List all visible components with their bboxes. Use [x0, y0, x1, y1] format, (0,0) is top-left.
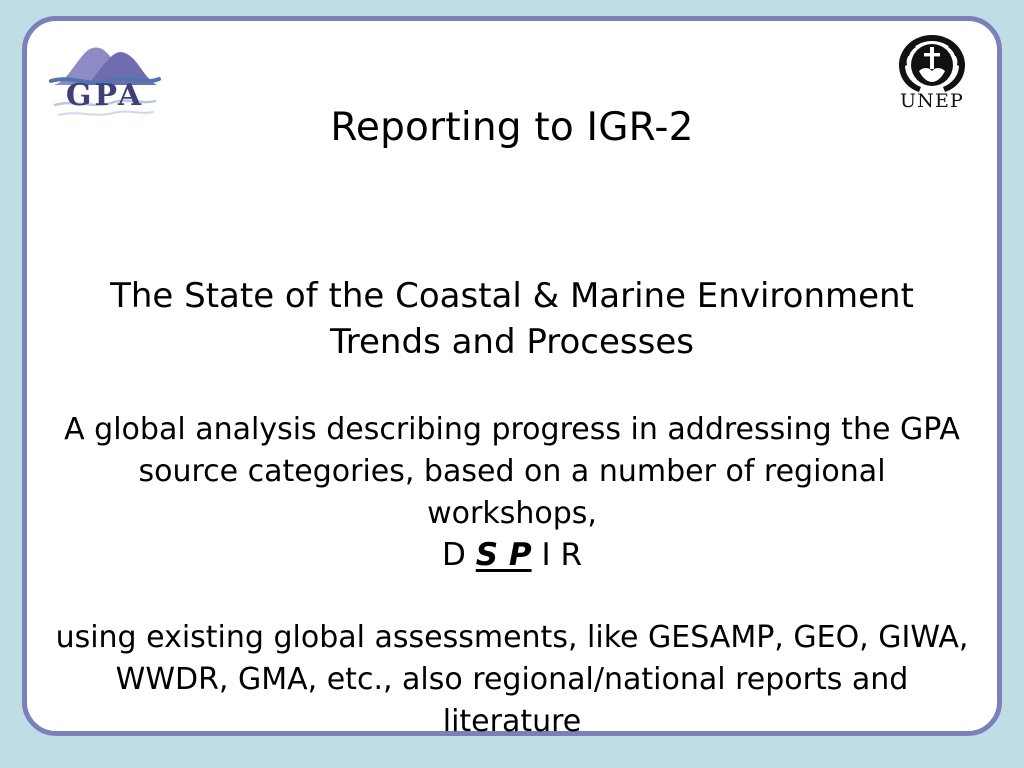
dpsir-trail: I R: [532, 537, 582, 573]
page-title: Reporting to IGR-2: [27, 103, 997, 153]
subtitle-line-2: Trends and Processes: [67, 319, 957, 365]
dpsir-stressed: S P: [476, 537, 532, 573]
slide-frame: GPA UNEP Reporting to IGR-2 The State of: [22, 16, 1002, 736]
unep-logo: UNEP: [889, 31, 975, 111]
paragraph-assessments: using existing global assessments, like …: [53, 617, 971, 743]
dpsir-lead: D: [442, 537, 476, 573]
paragraph-source-categories: A global analysis describing progress in…: [53, 409, 971, 535]
subtitle-line-1: The State of the Coastal & Marine Enviro…: [67, 273, 957, 319]
dpsir-line: D S P I R: [27, 533, 997, 577]
slide-subtitle: The State of the Coastal & Marine Enviro…: [67, 273, 957, 365]
